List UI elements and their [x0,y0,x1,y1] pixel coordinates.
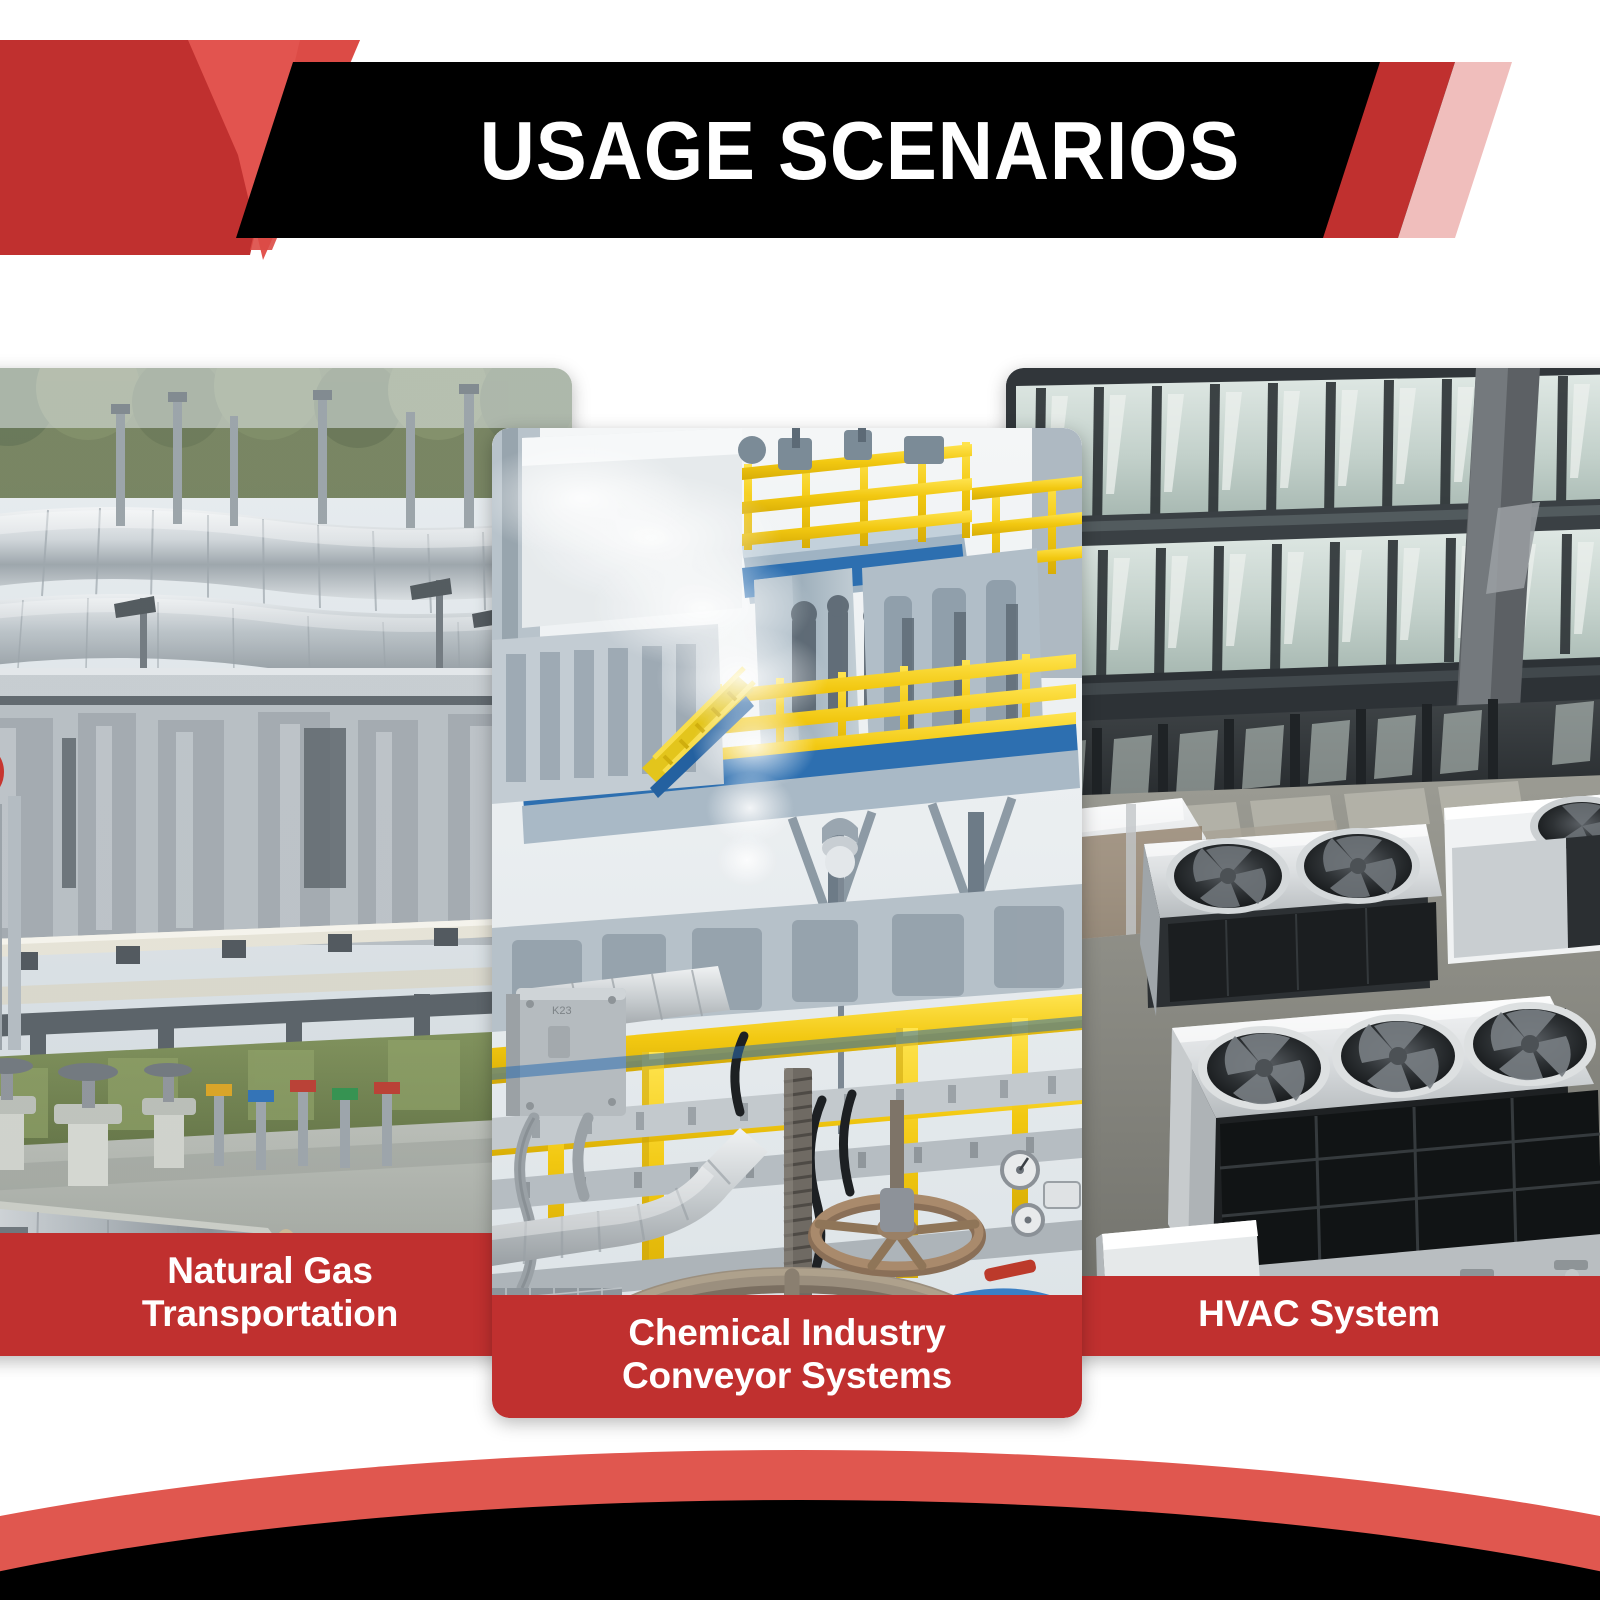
natural-gas-pipeline-photo [0,368,572,1356]
card-chemical-industry[interactable]: K23 [492,428,1082,1418]
svg-text:K23: K23 [552,1005,572,1017]
card-hvac-system[interactable]: HVAC System [1006,368,1600,1356]
card-natural-gas-inner: Natural Gas Transportation [0,368,572,1356]
caption-line-1: Natural Gas [0,1250,562,1293]
card-caption-natural-gas: Natural Gas Transportation [0,1233,572,1356]
card-natural-gas-transportation[interactable]: Natural Gas Transportation [0,368,572,1356]
caption-line-1: Chemical Industry [502,1312,1072,1355]
caption-line-1: HVAC System [1016,1293,1600,1336]
page-title: USAGE SCENARIOS [372,62,1347,238]
card-chemical-inner: K23 [492,428,1082,1418]
chemical-plant-photo: K23 [492,428,1082,1418]
caption-line-2: Conveyor Systems [502,1355,1072,1398]
card-caption-hvac: HVAC System [1006,1276,1600,1356]
footer-curve-shapes [0,1420,1600,1600]
card-hvac-inner: HVAC System [1006,368,1600,1356]
caption-line-2: Transportation [0,1293,562,1336]
card-caption-chemical: Chemical Industry Conveyor Systems [492,1295,1082,1418]
hvac-rooftop-chiller-photo [1006,368,1600,1356]
slide-root: USAGE SCENARIOS [0,0,1600,1600]
footer-decoration [0,1420,1600,1600]
header-banner: USAGE SCENARIOS [0,0,1600,300]
